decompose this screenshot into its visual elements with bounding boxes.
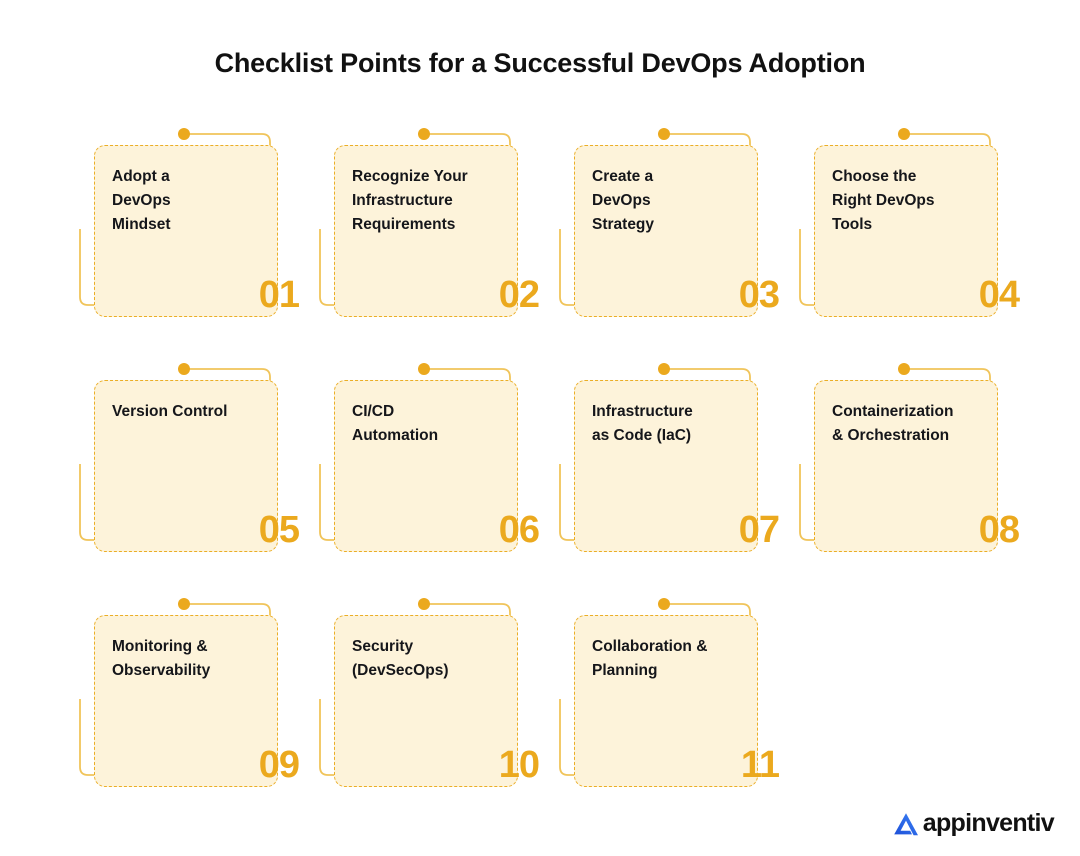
filled-circle-node-icon [898, 363, 910, 375]
checklist-card[interactable]: Security (DevSecOps)10 [334, 615, 518, 787]
checklist-card-title: Version Control [112, 400, 292, 424]
checklist-card-title: Create a DevOps Strategy [592, 165, 772, 237]
checklist-card-title: Adopt a DevOps Mindset [112, 165, 292, 237]
checklist-row: »Version Control05 »CI/CD Automation06 »… [64, 363, 1064, 598]
appinventiv-wordmark: appinventiv [923, 809, 1054, 838]
checklist-card-03[interactable]: »Create a DevOps Strategy03 [544, 128, 784, 363]
checklist-card-10[interactable]: »Security (DevSecOps)10 [304, 598, 544, 833]
checklist-row: »Adopt a DevOps Mindset01 »Recognize You… [64, 128, 1064, 363]
checklist-card-number: 01 [259, 276, 299, 314]
checklist-card[interactable]: CI/CD Automation06 [334, 380, 518, 552]
filled-circle-node-icon [418, 598, 430, 610]
appinventiv-a-chevron-icon [891, 810, 921, 838]
checklist-card-number: 04 [979, 276, 1019, 314]
filled-circle-node-icon [178, 363, 190, 375]
checklist-card-01[interactable]: »Adopt a DevOps Mindset01 [64, 128, 304, 363]
checklist-card[interactable]: Collaboration & Planning11 [574, 615, 758, 787]
filled-circle-node-icon [418, 363, 430, 375]
checklist-card-title: Infrastructure as Code (IaC) [592, 400, 772, 448]
checklist-card-05[interactable]: »Version Control05 [64, 363, 304, 598]
checklist-card-08[interactable]: »Containerization & Orchestration08 [784, 363, 1024, 598]
checklist-card[interactable]: Recognize Your Infrastructure Requiremen… [334, 145, 518, 317]
checklist-card-title: Containerization & Orchestration [832, 400, 1012, 448]
checklist-card-title: Monitoring & Observability [112, 635, 292, 683]
checklist-card[interactable]: Monitoring & Observability09 [94, 615, 278, 787]
checklist-card-06[interactable]: »CI/CD Automation06 [304, 363, 544, 598]
filled-circle-node-icon [898, 128, 910, 140]
filled-circle-node-icon [658, 363, 670, 375]
checklist-card-11[interactable]: »Collaboration & Planning11 [544, 598, 784, 833]
appinventiv-logo: appinventiv [891, 809, 1054, 838]
filled-circle-node-icon [418, 128, 430, 140]
checklist-card[interactable]: Choose the Right DevOps Tools04 [814, 145, 998, 317]
checklist-card-number: 11 [741, 746, 779, 784]
checklist-card-title: Recognize Your Infrastructure Requiremen… [352, 165, 532, 237]
checklist-card-04[interactable]: »Choose the Right DevOps Tools04 [784, 128, 1024, 363]
checklist-card-07[interactable]: »Infrastructure as Code (IaC)07 [544, 363, 784, 598]
filled-circle-node-icon [178, 128, 190, 140]
checklist-card-09[interactable]: »Monitoring & Observability09 [64, 598, 304, 833]
checklist-card-title: Security (DevSecOps) [352, 635, 532, 683]
checklist-card[interactable]: Adopt a DevOps Mindset01 [94, 145, 278, 317]
checklist-card-number: 02 [499, 276, 539, 314]
filled-circle-node-icon [658, 598, 670, 610]
checklist-card[interactable]: Create a DevOps Strategy03 [574, 145, 758, 317]
checklist-card[interactable]: Infrastructure as Code (IaC)07 [574, 380, 758, 552]
infographic-root: Checklist Points for a Successful DevOps… [0, 0, 1080, 856]
checklist-card-number: 08 [979, 511, 1019, 549]
checklist-card-title: Choose the Right DevOps Tools [832, 165, 1012, 237]
checklist-card[interactable]: Version Control05 [94, 380, 278, 552]
checklist-card-number: 10 [499, 746, 539, 784]
filled-circle-node-icon [658, 128, 670, 140]
checklist-card-number: 06 [499, 511, 539, 549]
checklist-card-title: Collaboration & Planning [592, 635, 772, 683]
page-title: Checklist Points for a Successful DevOps… [0, 48, 1080, 79]
checklist-card-number: 09 [259, 746, 299, 784]
checklist-card-number: 05 [259, 511, 299, 549]
checklist-card[interactable]: Containerization & Orchestration08 [814, 380, 998, 552]
checklist-card-title: CI/CD Automation [352, 400, 532, 448]
checklist-card-number: 03 [739, 276, 779, 314]
filled-circle-node-icon [178, 598, 190, 610]
checklist-card-02[interactable]: »Recognize Your Infrastructure Requireme… [304, 128, 544, 363]
checklist-grid: »Adopt a DevOps Mindset01 »Recognize You… [64, 128, 1064, 833]
checklist-card-number: 07 [739, 511, 779, 549]
checklist-row: »Monitoring & Observability09 »Security … [64, 598, 1064, 833]
